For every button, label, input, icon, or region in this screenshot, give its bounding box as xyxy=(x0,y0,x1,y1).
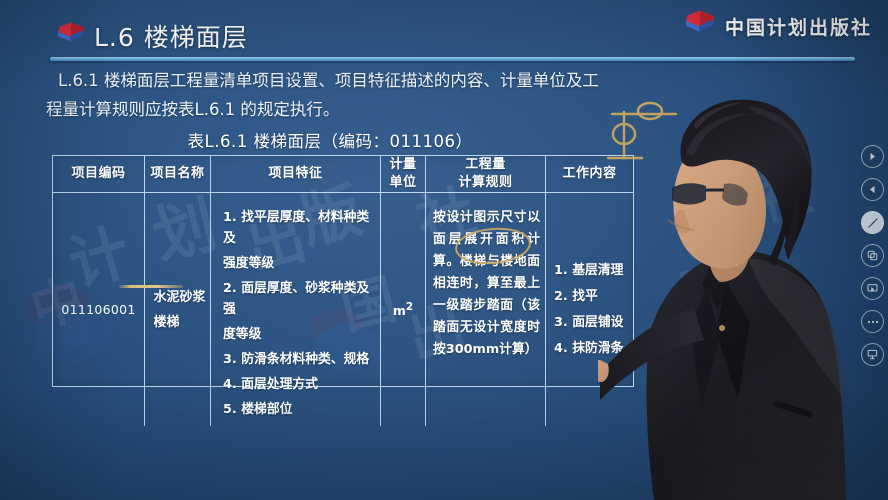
table-caption: 表L.6.1 楼梯面层（编码：011106） xyxy=(0,128,660,152)
title-divider xyxy=(50,57,855,61)
play-forward-icon[interactable] xyxy=(861,145,884,168)
presenter-figure xyxy=(598,70,888,500)
column-header-features: 项目特征 xyxy=(211,156,381,192)
column-header-calc-rule: 工程量 计算规则 xyxy=(426,156,546,192)
table-row: 011106001 水泥砂浆 楼梯 1. 找平层厚度、材料种类及 强度等级 2.… xyxy=(53,193,633,426)
play-back-icon[interactable] xyxy=(861,178,884,201)
player-toolbar[interactable] xyxy=(861,145,884,366)
cell-item-features: 1. 找平层厚度、材料种类及 强度等级 2. 面层厚度、砂浆种类及强 度等级 3… xyxy=(211,193,381,426)
paragraph-line-1: L.6.1 楼梯面层工程量清单项目设置、项目特征描述的内容、计量单位及工 xyxy=(58,71,599,90)
page-title: L.6 楼梯面层 xyxy=(94,18,248,54)
cell-item-code: 011106001 xyxy=(53,193,145,426)
pen-annotate-icon[interactable] xyxy=(861,211,884,234)
more-ellipsis-icon[interactable] xyxy=(861,310,884,333)
column-header-code: 项目编码 xyxy=(53,156,145,192)
specification-table: 项目编码 项目名称 项目特征 计量 单位 工程量 计算规则 xyxy=(52,155,634,387)
table-header-row: 项目编码 项目名称 项目特征 计量 单位 工程量 计算规则 xyxy=(53,156,633,193)
lecture-slide-screen: 计 划 出 版 社 中 国 出 版 社 国 L.6 楼梯面层 xyxy=(0,0,888,500)
column-header-name: 项目名称 xyxy=(145,156,211,192)
publisher-brand: 中国计划出版社 xyxy=(684,10,872,43)
screen-pointer-icon[interactable] xyxy=(861,277,884,300)
cell-item-name: 水泥砂浆 楼梯 xyxy=(145,193,211,426)
copy-duplicate-icon[interactable] xyxy=(861,244,884,267)
annotation-underline xyxy=(119,285,183,288)
column-header-unit: 计量 单位 xyxy=(381,156,426,192)
stacked-books-icon xyxy=(56,22,86,48)
presentation-screen-icon[interactable] xyxy=(861,343,884,366)
brand-name: 中国计划出版社 xyxy=(725,13,872,40)
cell-unit: m2 xyxy=(381,193,426,426)
brand-stacked-books-icon xyxy=(684,10,716,43)
